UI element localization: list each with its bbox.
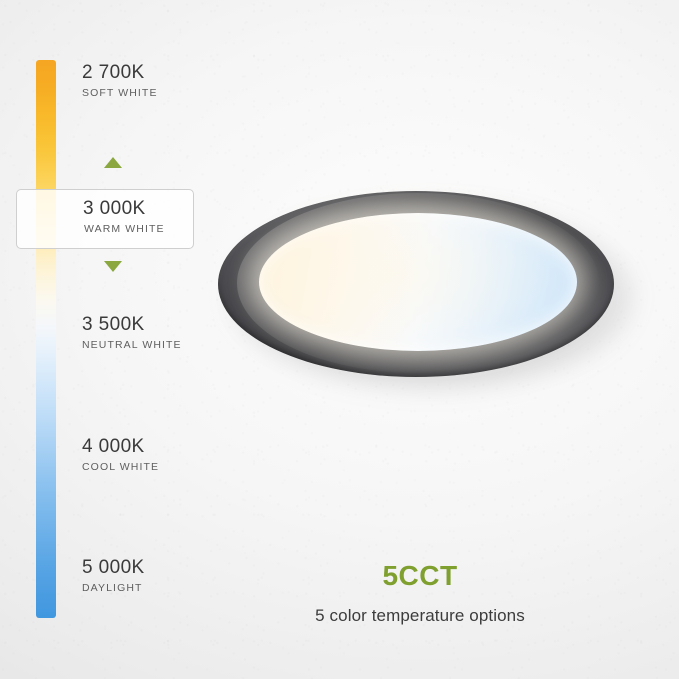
caption-block: 5CCT 5 color temperature options bbox=[250, 560, 590, 626]
ceiling-light-fixture bbox=[213, 185, 633, 395]
cct-tick-3500k-temp: 3 500K bbox=[82, 314, 182, 336]
product-image: 2 700K SOFT WHITE 3 000K WARM WHITE 3 50… bbox=[0, 0, 679, 679]
cct-tick-2700k-temp: 2 700K bbox=[82, 62, 158, 84]
cct-selected-name: WARM WHITE bbox=[84, 223, 165, 235]
cct-tick-4000k-temp: 4 000K bbox=[82, 436, 159, 458]
cct-tick-2700k-name: SOFT WHITE bbox=[82, 86, 158, 100]
cct-tick-4000k-name: COOL WHITE bbox=[82, 460, 159, 474]
cct-tick-5000k: 5 000K DAYLIGHT bbox=[82, 557, 145, 595]
caption-subtitle: 5 color temperature options bbox=[250, 606, 590, 626]
cct-tick-2700k: 2 700K SOFT WHITE bbox=[82, 62, 158, 100]
fixture-light-lens bbox=[259, 213, 577, 351]
cct-tick-3500k-name: NEUTRAL WHITE bbox=[82, 338, 182, 352]
cct-selected-3000k[interactable]: 3 000K WARM WHITE bbox=[16, 189, 194, 249]
color-temperature-gradient-bar[interactable] bbox=[36, 60, 56, 618]
cct-tick-5000k-name: DAYLIGHT bbox=[82, 581, 145, 595]
chevron-up-icon[interactable] bbox=[104, 157, 122, 168]
cct-selected-temp: 3 000K bbox=[83, 198, 146, 220]
chevron-down-icon[interactable] bbox=[104, 261, 122, 272]
cct-tick-3500k: 3 500K NEUTRAL WHITE bbox=[82, 314, 182, 352]
caption-title: 5CCT bbox=[250, 560, 590, 592]
cct-tick-5000k-temp: 5 000K bbox=[82, 557, 145, 579]
cct-tick-4000k: 4 000K COOL WHITE bbox=[82, 436, 159, 474]
